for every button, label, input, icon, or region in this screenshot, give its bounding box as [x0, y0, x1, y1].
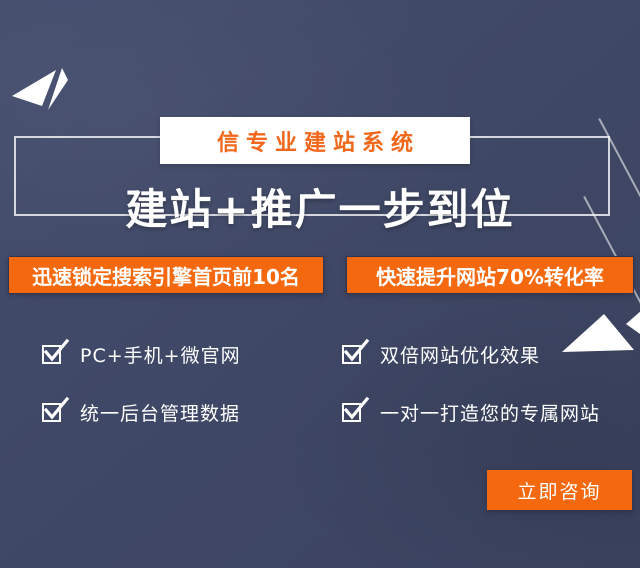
subtitle-label-box: 信专业建站系统 — [160, 117, 470, 164]
feature-list: PC+手机+微官网 双倍网站优化效果 统一后台管理数据 — [0, 330, 640, 436]
promo-banner: 信专业建站系统 建站+推广一步到位 迅速锁定搜索引擎首页前10名 快速提升网站7… — [0, 0, 640, 568]
highlight-banner-left: 迅速锁定搜索引擎首页前10名 — [8, 256, 324, 294]
highlight-banner-left-text: 迅速锁定搜索引擎首页前10名 — [32, 261, 300, 290]
paper-plane-icon — [10, 58, 70, 110]
feature-label: 一对一打造您的专属网站 — [380, 399, 600, 426]
checkbox-checked-icon — [42, 401, 64, 423]
consult-now-button[interactable]: 立即咨询 — [487, 470, 632, 510]
page-title: 建站+推广一步到位 — [0, 176, 640, 237]
feature-item: 一对一打造您的专属网站 — [320, 388, 640, 436]
checkbox-checked-icon — [342, 401, 364, 423]
feature-label: 统一后台管理数据 — [80, 399, 240, 426]
subtitle-text: 信专业建站系统 — [210, 125, 420, 157]
feature-item: PC+手机+微官网 — [0, 330, 320, 378]
checkbox-checked-icon — [342, 343, 364, 365]
highlight-banner-right: 快速提升网站70%转化率 — [346, 256, 634, 294]
feature-label: PC+手机+微官网 — [80, 341, 241, 368]
highlight-banner-right-text: 快速提升网站70%转化率 — [376, 261, 604, 290]
feature-item: 统一后台管理数据 — [0, 388, 320, 436]
feature-label: 双倍网站优化效果 — [380, 341, 540, 368]
feature-item: 双倍网站优化效果 — [320, 330, 640, 378]
checkbox-checked-icon — [42, 343, 64, 365]
